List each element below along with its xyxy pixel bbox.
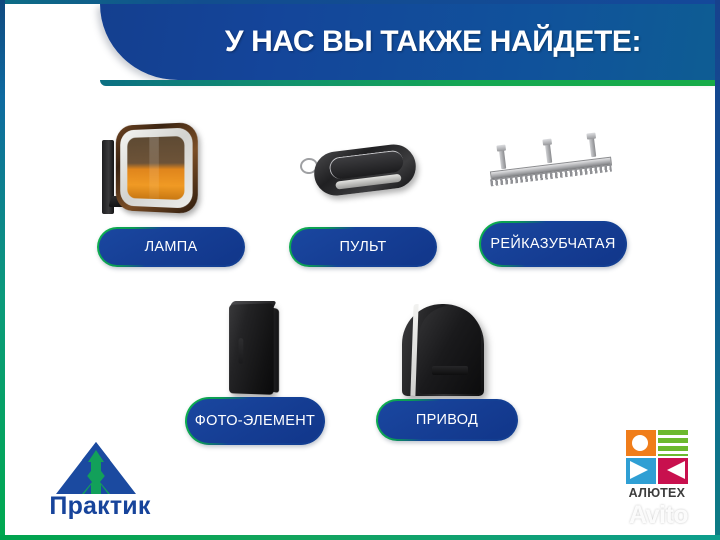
product-label-pill-rack[interactable]: РЕЙКА ЗУБЧАТАЯ <box>479 221 627 267</box>
product-card-lamp[interactable]: ЛАМПА <box>96 118 246 267</box>
blue-arrow-tile-icon <box>626 458 656 484</box>
slide-canvas: У НАС ВЫ ТАКЖЕ НАЙДЕТЕ: ЛАМПА ПУЛЬ <box>0 0 720 540</box>
lamp-lens-icon <box>127 136 184 200</box>
praktik-wordmark: Практик <box>30 492 170 521</box>
header-accent-bar <box>100 80 720 86</box>
photocell-lens-icon <box>239 338 244 364</box>
product-label-line-2: ЭЛЕМЕНТ <box>243 413 315 429</box>
toothed-rack-icon <box>478 118 628 223</box>
praktik-logo[interactable]: Практик <box>30 440 170 525</box>
lamp-frame-icon <box>120 127 192 208</box>
photocell-body-icon <box>229 303 274 395</box>
crimson-arrow-tile-icon <box>658 458 688 484</box>
border-rail-bottom <box>0 535 720 540</box>
drive-vent-icon <box>432 366 468 375</box>
remote-control-icon <box>288 118 438 223</box>
rack-bolt-icon <box>589 136 597 157</box>
product-label-text: ПУЛЬТ <box>291 229 435 265</box>
signal-lamp-icon <box>96 118 246 223</box>
product-label-line-1: РЕЙКА <box>490 236 539 252</box>
gate-drive-icon <box>372 296 522 401</box>
orange-circle-tile-icon <box>626 430 656 456</box>
product-label-text: ФОТО- ЭЛЕМЕНТ <box>187 399 323 443</box>
product-label-pill-photocell[interactable]: ФОТО- ЭЛЕМЕНТ <box>185 397 325 445</box>
header-banner: У НАС ВЫ ТАКЖЕ НАЙДЕТЕ: <box>100 4 720 80</box>
photocell-icon <box>180 296 330 401</box>
product-label-line-2: ЗУБЧАТАЯ <box>540 236 616 252</box>
alutech-tile-grid <box>626 430 688 484</box>
product-card-photocell[interactable]: ФОТО- ЭЛЕМЕНТ <box>180 296 330 445</box>
border-rail-left <box>0 0 5 540</box>
triangle-mountain-icon <box>54 440 138 496</box>
product-label-pill-remote[interactable]: ПУЛЬТ <box>289 227 437 267</box>
drive-front-icon <box>419 306 481 394</box>
green-stripes-tile-icon <box>658 430 688 456</box>
remote-housing-icon <box>312 142 419 198</box>
product-label-text: РЕЙКА ЗУБЧАТАЯ <box>481 223 625 265</box>
rack-bolt-icon <box>545 142 553 163</box>
product-card-remote[interactable]: ПУЛЬТ <box>288 118 438 267</box>
product-label-line-1: ФОТО- <box>195 413 243 429</box>
product-card-drive[interactable]: ПРИВОД <box>372 296 522 441</box>
product-label-text: ПРИВОД <box>378 401 516 439</box>
product-label-pill-lamp[interactable]: ЛАМПА <box>97 227 245 267</box>
page-title: У НАС ВЫ ТАКЖЕ НАЙДЕТЕ: <box>100 4 720 80</box>
lamp-housing-icon <box>116 122 198 214</box>
product-label-text: ЛАМПА <box>99 229 243 265</box>
product-label-pill-drive[interactable]: ПРИВОД <box>376 399 518 441</box>
alutech-logo[interactable]: АЛЮТЕХ <box>617 430 697 510</box>
alutech-wordmark: АЛЮТЕХ <box>617 486 697 500</box>
product-card-rack[interactable]: РЕЙКА ЗУБЧАТАЯ <box>478 118 628 267</box>
rack-bolt-icon <box>499 148 507 169</box>
